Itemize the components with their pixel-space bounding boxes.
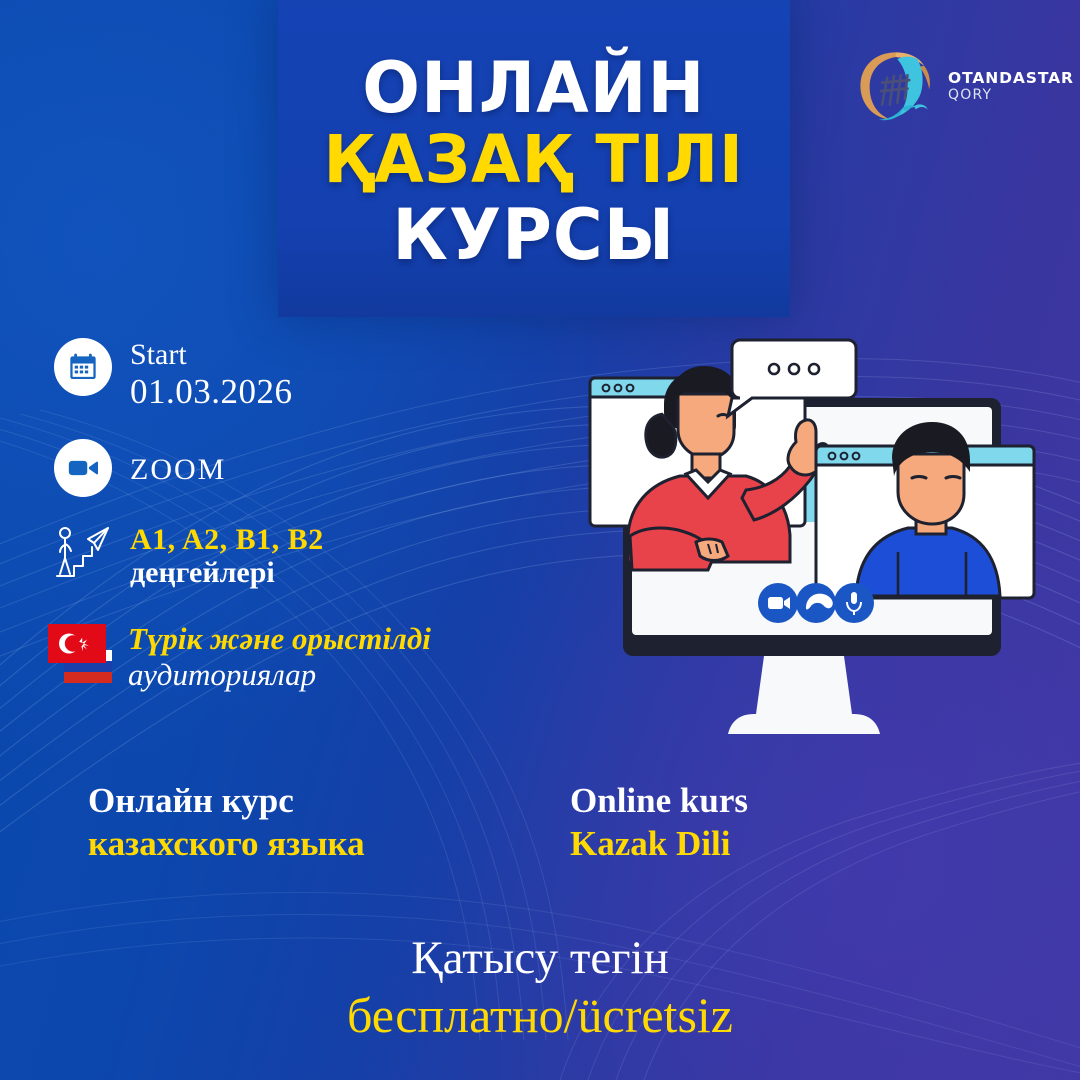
info-row-levels: A1, A2, B1, B2 деңгейлері: [52, 521, 572, 591]
info-row-platform: ZOOM: [52, 437, 572, 499]
turkish-flag-crescent-star: [48, 624, 106, 663]
levels-codes: A1, A2, B1, B2: [130, 523, 324, 556]
info-list: Start 01.03.2026 ZOOM: [52, 336, 572, 720]
stairs-person-paperplane-icon: [52, 522, 114, 582]
title-line-3: КУРСЫ: [393, 201, 676, 270]
start-date-value: 01.03.2026: [130, 372, 293, 411]
caption-russian: Онлайн курс казахского языка: [0, 780, 520, 865]
logo-name: OTANDASTAR: [948, 69, 1074, 87]
turkish-russian-flags-icon: [52, 620, 114, 682]
call-controls: [758, 583, 874, 623]
video-call-monitor-illustration: [568, 330, 1040, 738]
caption-russian-line1: Онлайн курс: [88, 780, 520, 823]
flags-icon-wrapper: [52, 620, 114, 682]
monitor-stand-base: [728, 714, 880, 734]
hangup-control-icon[interactable]: [796, 583, 836, 623]
microphone-control-icon[interactable]: [834, 583, 874, 623]
caption-turkish-line1: Online kurs: [570, 780, 990, 823]
info-text-start-date: Start 01.03.2026: [130, 336, 293, 411]
video-camera-icon-circle: [54, 439, 112, 497]
footer-line-kazakh: Қатысу тегін: [0, 930, 1080, 986]
info-text-levels: A1, A2, B1, B2 деңгейлері: [130, 521, 324, 591]
student-face: [898, 454, 964, 524]
calendar-icon-wrapper: [52, 336, 114, 398]
title-line-1: ОНЛАЙН: [363, 54, 706, 123]
dual-language-captions: Онлайн курс казахского языка Online kurs…: [0, 780, 1080, 865]
video-control-icon[interactable]: [758, 583, 798, 623]
audiences-label: аудиториялар: [128, 657, 431, 694]
video-camera-icon: [66, 451, 100, 485]
caption-turkish-line2: Kazak Dili: [570, 823, 990, 866]
logo-wordmark: OTANDASTAR QORY: [948, 69, 1074, 104]
poster-canvas: ОНЛАЙН ҚАЗАҚ ТІЛІ КУРСЫ OTANDA: [0, 0, 1080, 1080]
platform-label: ZOOM: [130, 439, 226, 487]
calendar-icon-circle: [54, 338, 112, 396]
title-panel: ОНЛАЙН ҚАЗАҚ ТІЛІ КУРСЫ: [278, 0, 790, 317]
info-text-platform: ZOOM: [130, 437, 226, 487]
levels-label: деңгейлері: [130, 556, 324, 591]
video-camera-icon-wrapper: [52, 437, 114, 499]
title-line-2: ҚАЗАҚ ТІЛІ: [324, 128, 744, 193]
stairs-icon-wrapper: [52, 521, 114, 583]
teacher-face: [678, 394, 734, 458]
logo-subtitle: QORY: [948, 87, 1074, 104]
info-row-audiences: Түрік және орыстілді аудиториялар: [52, 620, 572, 693]
footer-line-ru-tr: бесплатно/ücretsiz: [0, 986, 1080, 1045]
turkish-flag-icon: [48, 624, 106, 663]
caption-russian-line2: казахского языка: [88, 823, 520, 866]
audiences-languages: Түрік және орыстілді: [128, 622, 431, 657]
start-label: Start: [130, 338, 293, 372]
info-text-audiences: Түрік және орыстілді аудиториялар: [128, 620, 431, 693]
brand-logo: OTANDASTAR QORY: [852, 44, 1074, 128]
otandastar-logo-icon: [852, 44, 936, 128]
footer-free-notice: Қатысу тегін бесплатно/ücretsiz: [0, 930, 1080, 1045]
info-row-start-date: Start 01.03.2026: [52, 336, 572, 411]
caption-turkish: Online kurs Kazak Dili: [520, 780, 990, 865]
teacher-hand-lower: [696, 539, 728, 561]
monitor-stand-neck: [756, 656, 852, 714]
calendar-icon: [67, 351, 99, 383]
